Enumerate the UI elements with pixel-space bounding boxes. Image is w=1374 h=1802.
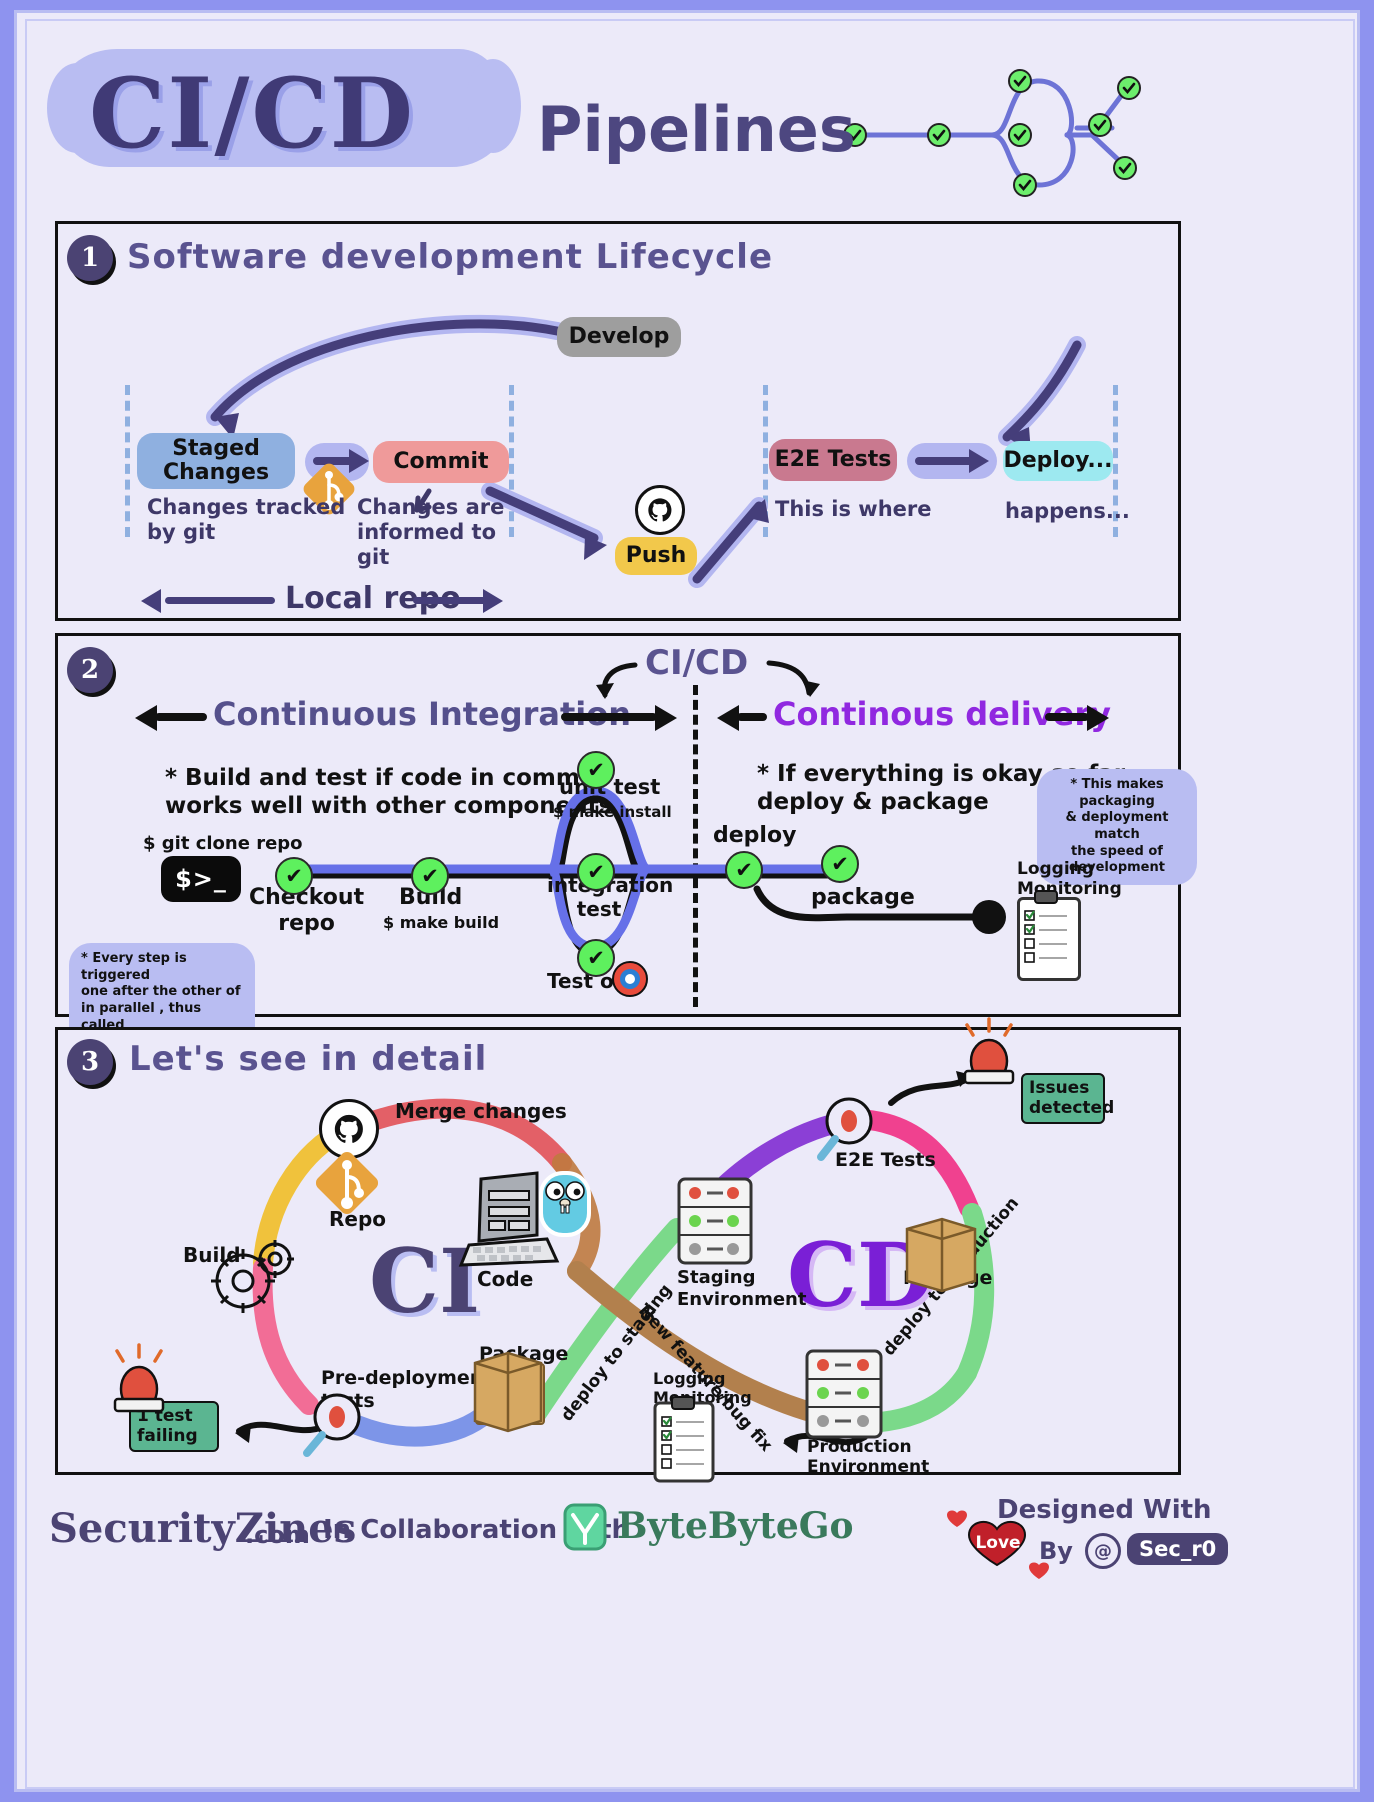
pipeline-label-package: package	[811, 885, 915, 911]
node-deploy[interactable]: Deploy...	[1003, 441, 1113, 481]
ci-arrow-head-right	[655, 705, 677, 731]
section-3-badge: 3	[67, 1039, 113, 1085]
at-icon: @	[1085, 1533, 1121, 1569]
collaboration-text: In Collaboration with	[323, 1515, 630, 1545]
by-text: By	[1039, 1537, 1073, 1565]
label-package-cd: Package	[903, 1267, 992, 1290]
label-code: Code	[477, 1267, 533, 1291]
pipeline-node-deploy[interactable]: ✔	[725, 851, 763, 889]
node-push[interactable]: Push	[615, 537, 697, 575]
clipboard-icon-sec2	[1017, 897, 1081, 981]
poster-sheet: CI/CD Pipelines 1 Software development L…	[14, 10, 1360, 1792]
author-handle: Sec_r0	[1127, 1533, 1228, 1565]
cicd-divider-label: CI/CD	[645, 643, 748, 684]
caption-e2e: This is where	[775, 497, 932, 522]
local-repo-arrow-left-head	[141, 589, 161, 613]
brand-securityzines: SecurityZines	[49, 1505, 356, 1552]
issues-detected-badge: Issues detected	[1021, 1073, 1105, 1124]
caption-staged-changes: Changes tracked by git	[147, 495, 345, 545]
ci-cd-vertical-divider	[693, 685, 698, 1007]
staged-to-commit-arrow-head	[349, 449, 369, 473]
cd-arrow-bar-left	[737, 713, 767, 721]
node-staged-changes[interactable]: Staged Changes	[137, 433, 295, 489]
e2e-to-deploy-arrow-bar	[915, 457, 973, 465]
footer: SecurityZines .com In Collaboration with…	[17, 1491, 1357, 1601]
pipeline-node-integration-test[interactable]: ✔	[577, 853, 615, 891]
brand-tld: .com	[245, 1521, 310, 1549]
remote-left-divider	[763, 385, 768, 537]
label-staging-environment: Staging Environment	[677, 1267, 806, 1310]
ci-note: * Build and test if code in commit works…	[165, 765, 612, 820]
pipeline-node-checkout[interactable]: ✔	[275, 857, 313, 895]
page-subtitle: Pipelines	[537, 93, 856, 166]
section-3-heading: Let's see in detail	[129, 1039, 487, 1079]
label-merge-changes: Merge changes	[395, 1099, 567, 1123]
node-e2e-tests[interactable]: E2E Tests	[769, 439, 897, 481]
local-repo-arrow-right-bar	[413, 597, 489, 604]
e2e-to-deploy-arrow-head	[969, 449, 989, 473]
designed-with-text: Designed With	[997, 1495, 1212, 1525]
section-2-badge: 2	[67, 647, 113, 693]
pipeline-cmd-build: $ make build	[383, 913, 499, 932]
github-octocat-icon	[635, 485, 685, 535]
caption-deploy: happens...	[1005, 499, 1130, 524]
pipeline-node-test-on[interactable]: ✔	[577, 939, 615, 977]
label-production-environment: Production Environment	[807, 1437, 929, 1478]
page-title: CI/CD	[89, 57, 415, 170]
pipeline-node-build[interactable]: ✔	[411, 857, 449, 895]
label-e2e-tests-sec3: E2E Tests	[835, 1149, 936, 1172]
cd-arrow-head-left	[717, 705, 739, 731]
logging-monitoring-label-sec2: Logging Monitoring	[1017, 859, 1122, 900]
pipeline-label-deploy: deploy	[713, 823, 796, 849]
ci-logo: CI	[369, 1229, 480, 1333]
section-1-heading: Software development Lifecycle	[127, 237, 773, 277]
pipeline-label-checkout: Checkout repo	[249, 885, 364, 938]
ci-arrow-bar-right	[561, 713, 657, 721]
local-repo-left-divider	[125, 385, 130, 537]
node-commit[interactable]: Commit	[373, 441, 509, 483]
label-pre-deployment-tests: Pre-deployment tests	[321, 1367, 492, 1413]
label-logging-monitoring-sec3: Logging Monitoring	[653, 1369, 752, 1407]
ci-arrow-bar-left	[155, 713, 207, 721]
ci-arrow-head	[135, 705, 157, 731]
label-repo: Repo	[329, 1207, 386, 1231]
local-repo-arrow-left-bar	[165, 597, 275, 604]
terminal-icon: $>_	[161, 856, 241, 902]
partner-bytebytego: ByteByteGo	[617, 1505, 854, 1547]
git-clone-command: $ git clone repo	[143, 833, 303, 855]
local-repo-arrow-right-head	[483, 589, 503, 613]
infographic-page: CI/CD Pipelines 1 Software development L…	[0, 0, 1374, 1802]
cd-arrow-bar-right	[1045, 713, 1089, 721]
section-1-badge: 1	[67, 235, 113, 281]
pipeline-node-package[interactable]: ✔	[821, 845, 859, 883]
love-label: Love	[977, 1533, 1019, 1553]
test-failing-badge: 1 test failing	[129, 1401, 219, 1452]
pipeline-cmd-unit-test: $ make install	[553, 803, 672, 821]
package-box-icon-ci	[475, 1363, 545, 1425]
caption-commit: Changes are informed to git	[357, 495, 504, 569]
local-repo-right-divider	[509, 385, 514, 537]
pipeline-node-unit-test[interactable]: ✔	[577, 751, 615, 789]
github-octocat-icon-sec3	[319, 1099, 379, 1159]
cd-arrow-head-right	[1087, 705, 1109, 731]
label-build-sec3: Build	[183, 1243, 241, 1267]
node-develop[interactable]: Develop	[557, 317, 681, 357]
